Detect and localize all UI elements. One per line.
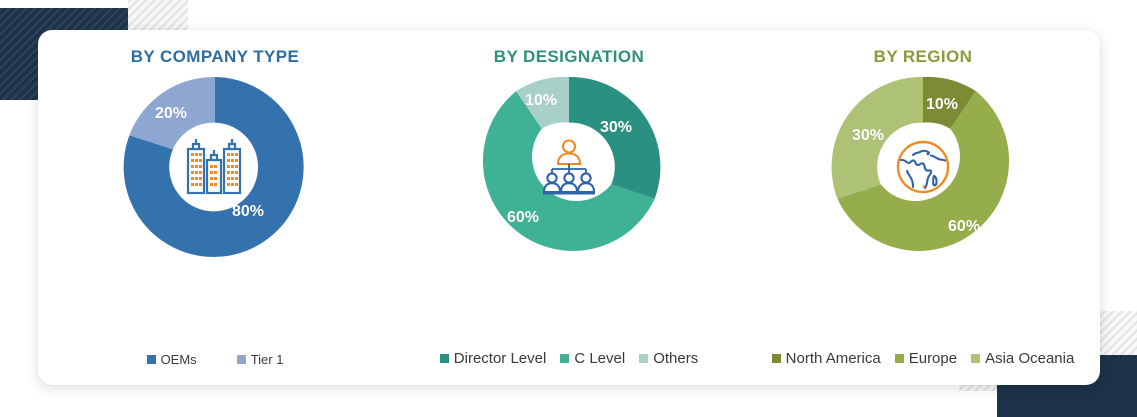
legend-item-tier-1[interactable]: Tier 1	[237, 352, 284, 367]
legend-swatch-others	[639, 354, 648, 363]
legend-by-region: North America Europe Asia Oceania	[746, 350, 1100, 367]
panel-by-company-type: BY COMPANY TYPE 80% 20%	[38, 30, 392, 385]
legend-label-oems: OEMs	[161, 352, 197, 367]
donut-chart-by-region: 10% 60% 30%	[827, 71, 1019, 263]
panel-by-designation: BY DESIGNATION 30% 60% 10%	[392, 30, 746, 385]
legend-swatch-tier-1	[237, 355, 246, 364]
legend-label-tier-1: Tier 1	[251, 352, 284, 367]
panel-title-by-designation: BY DESIGNATION	[494, 47, 644, 67]
globe-icon	[887, 131, 959, 203]
legend-item-europe[interactable]: Europe	[895, 350, 957, 367]
legend-label-asia-oceania: Asia Oceania	[985, 350, 1074, 367]
legend-label-director-level: Director Level	[454, 350, 547, 367]
infographic-canvas: BY COMPANY TYPE 80% 20%	[0, 0, 1137, 417]
legend-item-north-america[interactable]: North America	[772, 350, 881, 367]
panel-title-by-company-type: BY COMPANY TYPE	[131, 47, 299, 67]
charts-card: BY COMPANY TYPE 80% 20%	[38, 30, 1100, 385]
donut-chart-by-company-type: 80% 20%	[119, 71, 311, 263]
panel-title-by-region: BY REGION	[874, 47, 973, 67]
legend-item-director-level[interactable]: Director Level	[440, 350, 547, 367]
donut-chart-by-designation: 30% 60% 10%	[473, 71, 665, 263]
legend-by-designation: Director Level C Level Others	[392, 350, 746, 367]
legend-swatch-oems	[147, 355, 156, 364]
legend-swatch-director-level	[440, 354, 449, 363]
legend-label-europe: Europe	[909, 350, 957, 367]
legend-swatch-c-level	[560, 354, 569, 363]
legend-label-others: Others	[653, 350, 698, 367]
panel-by-region: BY REGION 10% 60% 30%	[746, 30, 1100, 385]
org-chart-people-icon	[533, 131, 605, 203]
legend-swatch-asia-oceania	[971, 354, 980, 363]
legend-swatch-north-america	[772, 354, 781, 363]
legend-label-c-level: C Level	[574, 350, 625, 367]
legend-swatch-europe	[895, 354, 904, 363]
legend-by-company-type: OEMs Tier 1	[38, 352, 392, 367]
legend-item-others[interactable]: Others	[639, 350, 698, 367]
legend-label-north-america: North America	[786, 350, 881, 367]
legend-item-oems[interactable]: OEMs	[147, 352, 197, 367]
buildings-icon	[179, 131, 251, 203]
legend-item-c-level[interactable]: C Level	[560, 350, 625, 367]
legend-item-asia-oceania[interactable]: Asia Oceania	[971, 350, 1074, 367]
